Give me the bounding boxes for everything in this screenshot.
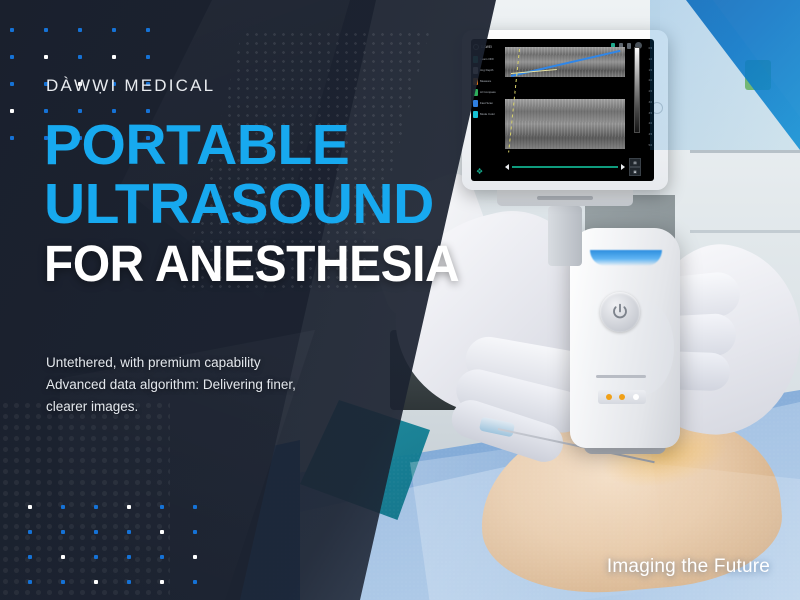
mode-color-icon [473, 111, 478, 118]
save-icon[interactable]: ▤ [629, 158, 641, 167]
decorative-dot [112, 28, 116, 32]
decorative-dot [94, 505, 98, 509]
body-copy-line-3: clearer images. [46, 396, 376, 418]
decorative-dot [10, 82, 14, 86]
decorative-dot [28, 555, 32, 559]
room-shelf-edge-1 [690, 150, 800, 153]
decorative-dot-grid-bottom-left [28, 505, 197, 584]
cine-slider[interactable] [505, 159, 625, 175]
decorative-dot [28, 580, 32, 584]
ultrasound-image-area[interactable] [505, 43, 625, 153]
sidebar-label-measure: Measure [480, 80, 491, 84]
decorative-dot [10, 55, 14, 59]
decorative-dot [127, 555, 131, 559]
headline-line-1: PORTABLE [44, 118, 486, 174]
decorative-dot [112, 55, 116, 59]
cine-track[interactable] [512, 166, 618, 167]
headline-block: PORTABLE ULTRASOUND FOR ANESTHESIA [44, 118, 486, 289]
ultrasound-scan-panel-bottom [505, 99, 625, 149]
print-icon[interactable]: ▣ [629, 167, 641, 176]
decorative-dot [193, 580, 197, 584]
decorative-dot [94, 555, 98, 559]
gain-grayscale-bar[interactable] [634, 47, 640, 133]
decorative-dot [61, 505, 65, 509]
decorative-dot [78, 55, 82, 59]
decorative-dot [61, 530, 65, 534]
company-name: DÀWẈI MEDICAL [46, 76, 215, 96]
sidebar-label-fast-scan: Fast Scan [480, 102, 493, 106]
decorative-dot [94, 530, 98, 534]
body-copy-line-2: Advanced data algorithm: Delivering fine… [46, 374, 376, 396]
power-icon [610, 302, 630, 322]
decorative-dot [127, 530, 131, 534]
decorative-dot [61, 580, 65, 584]
ultrasound-tablet: DAWEI Exam OFF Img Depth Measure [462, 30, 668, 190]
decorative-dot [44, 28, 48, 32]
ultrasound-tool-buttons[interactable]: ▤ ▣ [629, 158, 641, 176]
tablet-stand-neck [548, 206, 582, 266]
fast-scan-icon [473, 100, 478, 107]
decorative-dot [193, 505, 197, 509]
decorative-dot [10, 136, 14, 140]
probe-battery-indicator [598, 390, 646, 404]
sidebar-item-ai-compass[interactable]: AI Compass [473, 89, 503, 96]
body-copy-line-1: Untethered, with premium capability [46, 352, 376, 374]
sidebar-item-mode-color[interactable]: Mode Color [473, 111, 503, 118]
decorative-dot [160, 530, 164, 534]
tablet-stand-bar [537, 196, 593, 200]
probe-status-led-arc [590, 250, 662, 266]
body-copy: Untethered, with premium capability Adva… [46, 352, 376, 418]
decorative-dot [193, 555, 197, 559]
cine-next-icon[interactable] [621, 164, 625, 170]
product-banner: DAWEI Exam OFF Img Depth Measure [0, 0, 800, 600]
decorative-dot [61, 555, 65, 559]
decorative-dot [10, 109, 14, 113]
decorative-dot [146, 28, 150, 32]
decorative-dot [28, 505, 32, 509]
headline-line-2: ULTRASOUND [44, 177, 486, 233]
probe-led-1 [606, 394, 612, 400]
headline-line-3: FOR ANESTHESIA [44, 239, 459, 289]
decorative-dot [160, 580, 164, 584]
decorative-dot [78, 28, 82, 32]
decorative-dot [127, 580, 131, 584]
sidebar-label-mode-color: Mode Color [480, 113, 495, 117]
decorative-dot [28, 530, 32, 534]
decorative-dot [193, 530, 197, 534]
decorative-dot [94, 580, 98, 584]
probe-led-3 [633, 394, 639, 400]
sidebar-label-ai-compass: AI Compass [480, 91, 496, 95]
freeze-icon [627, 43, 631, 49]
decorative-dot [10, 28, 14, 32]
decorative-dot [146, 55, 150, 59]
decorative-dot [160, 555, 164, 559]
probe-led-2 [619, 394, 625, 400]
tagline: Imaging the Future [607, 556, 770, 578]
decorative-dot [44, 55, 48, 59]
cine-prev-icon[interactable] [505, 164, 509, 170]
decorative-dot [160, 505, 164, 509]
decorative-dot [127, 505, 131, 509]
room-shelf-edge-2 [690, 230, 800, 233]
sidebar-item-fast-scan[interactable]: Fast Scan [473, 100, 503, 107]
sidebar-label-depth: Img Depth [480, 69, 493, 73]
ultrasound-app-screen[interactable]: DAWEI Exam OFF Img Depth Measure [471, 39, 654, 181]
probe-vent-slot [596, 375, 646, 378]
probe-power-button[interactable] [600, 292, 640, 332]
